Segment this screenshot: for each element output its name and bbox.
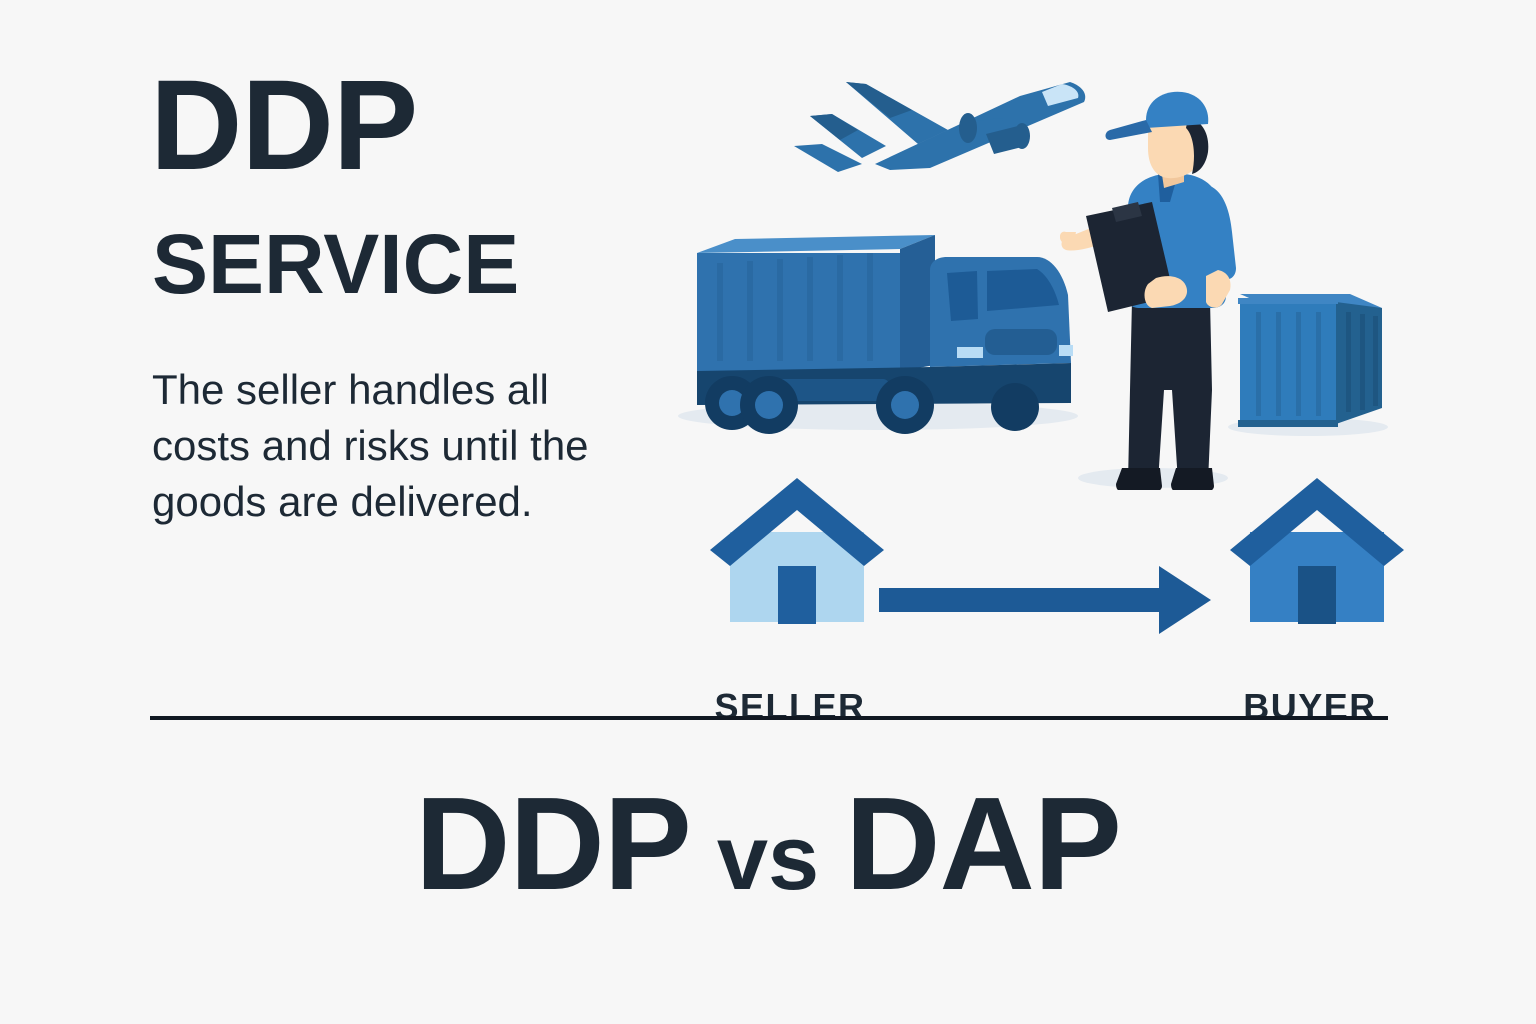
section-divider (150, 716, 1388, 720)
infographic-canvas: DDP SERVICE The seller handles all costs… (0, 0, 1536, 1024)
comparison-connector: vs (691, 807, 845, 909)
seller-to-buyer-arrow-icon (875, 560, 1215, 640)
airplane-icon (770, 60, 1100, 200)
logistics-illustration: SELLER BUYER (660, 50, 1460, 700)
page-subtitle: SERVICE (152, 222, 519, 306)
comparison-headline: DDPvsDAP (0, 768, 1536, 919)
buyer-house-icon (1222, 470, 1412, 630)
page-title: DDP (150, 62, 417, 190)
seller-house-icon (702, 470, 892, 630)
description-text: The seller handles all costs and risks u… (152, 362, 602, 530)
comparison-left-term: DDP (415, 770, 691, 917)
buyer-house-label: BUYER (1190, 686, 1430, 728)
delivery-truck-icon (685, 195, 1105, 445)
delivery-worker-icon (1060, 90, 1290, 490)
comparison-right-term: DAP (845, 770, 1121, 917)
seller-house-label: SELLER (670, 686, 910, 728)
